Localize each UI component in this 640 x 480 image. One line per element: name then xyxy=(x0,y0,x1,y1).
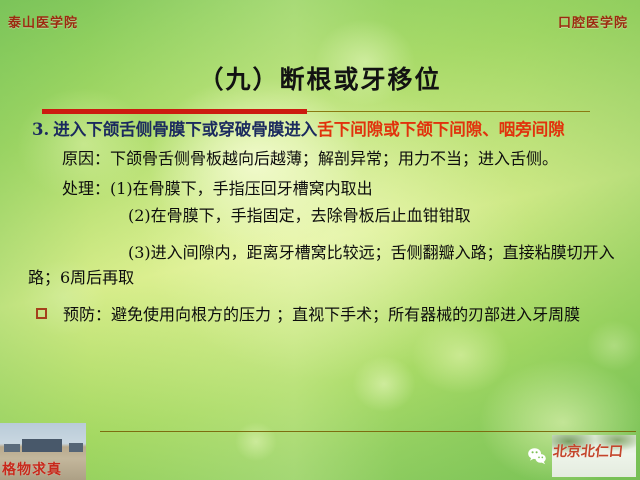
header-left-institution: 泰山医学院 xyxy=(8,12,78,31)
treatment-paragraph-3: (3)进入间隙内，距离牙槽窝比较远；舌侧翻瓣入路；直接粘膜切开入路；6周后再取 xyxy=(28,240,620,290)
title-divider-thick-bar xyxy=(42,109,307,114)
bullet-item-3-text-highlight: 舌下间隙或下颌下间隙、咽旁间隙 xyxy=(317,120,565,139)
slide-body: 3. 进入下颌舌侧骨膜下或穿破骨膜进入舌下间隙或下颌下间隙、咽旁间隙 原因：下颌… xyxy=(28,118,620,327)
watermark-text: 北京北仁口 xyxy=(552,441,624,461)
slide-canvas: 泰山医学院 口腔医学院 （九）断根或牙移位 3. 进入下颌舌侧骨膜下或穿破骨膜进… xyxy=(0,0,640,480)
bullet-item-3-number: 3. xyxy=(28,118,53,141)
campus-photo-building-main xyxy=(22,439,62,452)
header-right-department: 口腔医学院 xyxy=(558,12,628,31)
prevention-item: 预防：避免使用向根方的压力 ；直视下手术；所有器械的刃部进入牙周膜 xyxy=(28,302,620,327)
treatment-paragraph-2: (2)在骨膜下，手指固定，去除骨板后止血钳钳取 xyxy=(28,203,620,228)
campus-motto-text: 格物求真 xyxy=(2,459,62,479)
square-bullet-icon xyxy=(36,308,47,319)
campus-photo-building-right xyxy=(69,443,83,452)
bullet-item-3-text: 进入下颌舌侧骨膜下或穿破骨膜进入舌下间隙或下颌下间隙、咽旁间隙 xyxy=(53,118,620,141)
campus-photo: 格物求真 xyxy=(0,423,86,480)
title-divider xyxy=(42,108,590,116)
treatment-paragraph-1: 处理：(1)在骨膜下，手指压回牙槽窝内取出 xyxy=(28,176,620,201)
campus-photo-building-left xyxy=(4,444,20,452)
bullet-item-3: 3. 进入下颌舌侧骨膜下或穿破骨膜进入舌下间隙或下颌下间隙、咽旁间隙 xyxy=(28,118,620,141)
slide-title: （九）断根或牙移位 xyxy=(0,60,640,96)
wechat-icon xyxy=(527,446,547,466)
prevention-paragraph: 预防：避免使用向根方的压力 ；直视下手术；所有器械的刃部进入牙周膜 xyxy=(63,302,620,327)
cause-paragraph: 原因：下颌骨舌侧骨板越向后越薄；解剖异常；用力不当；进入舌侧。 xyxy=(28,146,620,171)
footer-divider xyxy=(100,431,636,432)
bullet-item-3-text-normal: 进入下颌舌侧骨膜下或穿破骨膜进入 xyxy=(53,120,317,139)
watermark-photo: 北京北仁口 xyxy=(552,435,636,477)
watermark: 北京北仁口 xyxy=(527,434,636,478)
